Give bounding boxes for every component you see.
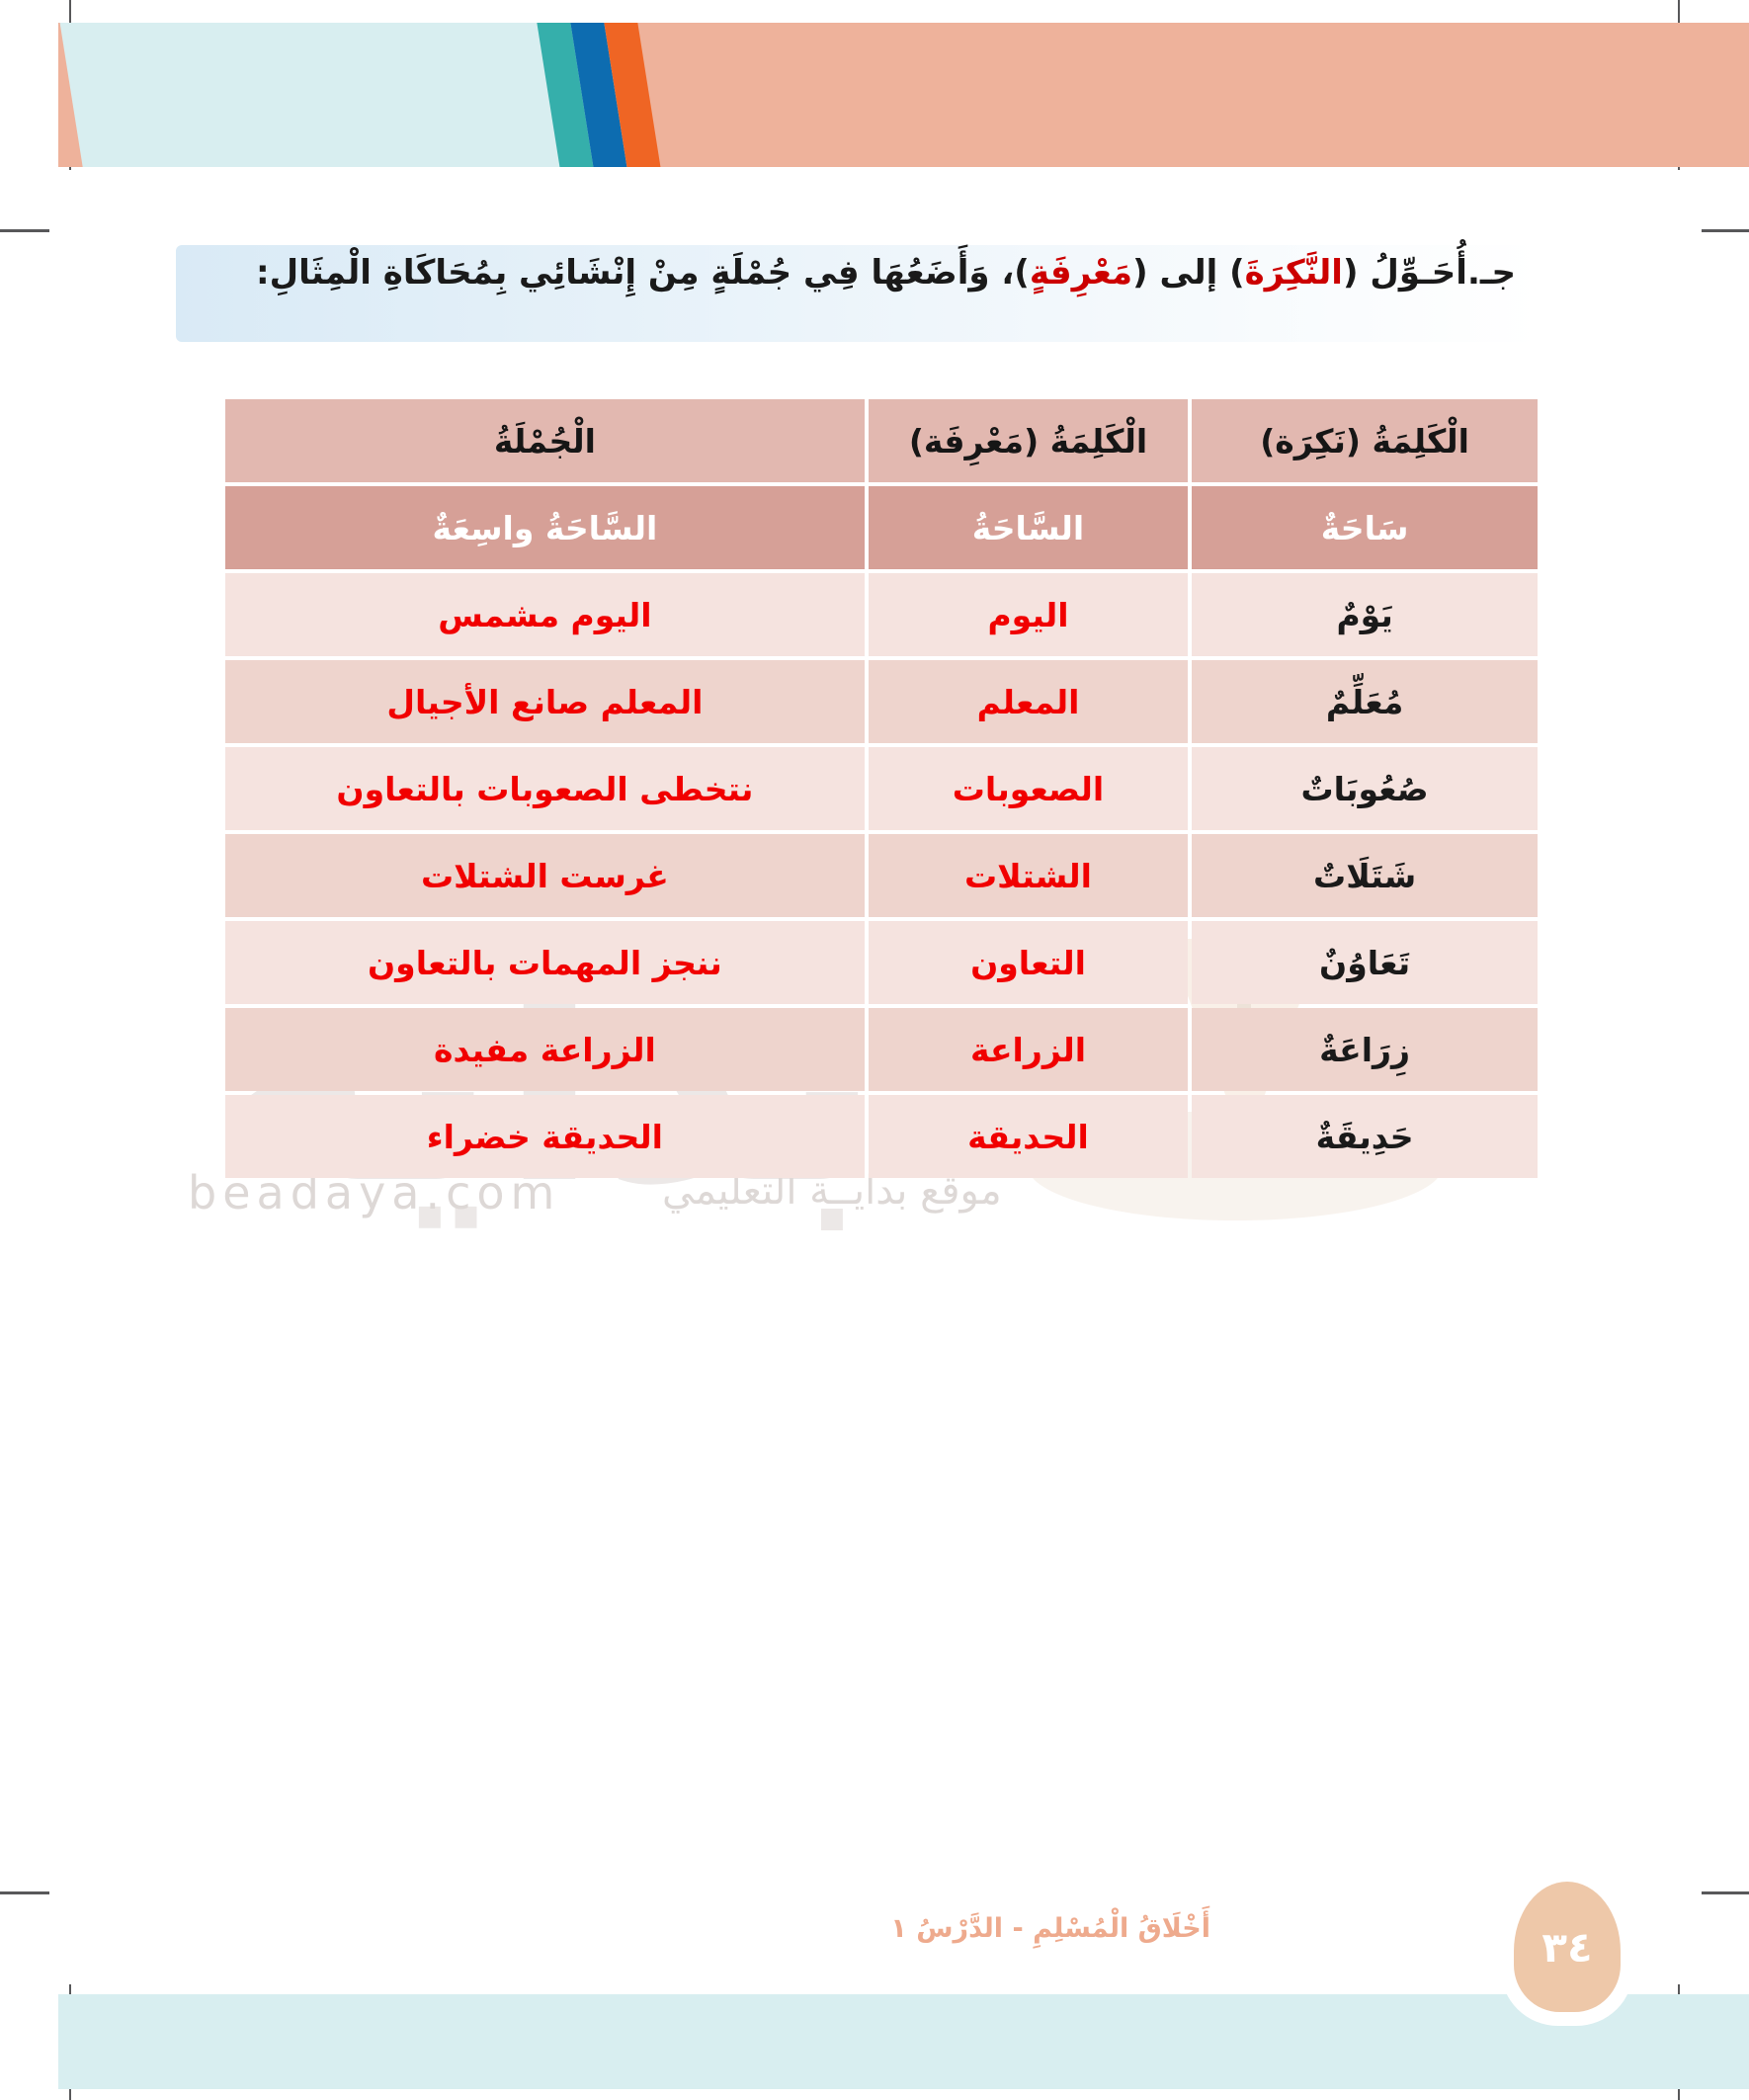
worksheet-page: جـ.أُحَـوِّلُ (النَّكِرَةَ) إلى (مَعْرِف… [0, 0, 1749, 2100]
instruction-banner: جـ.أُحَـوِّلُ (النَّكِرَةَ) إلى (مَعْرِف… [176, 245, 1540, 342]
instruction-marker: جـ. [1467, 253, 1516, 293]
table-row: شَتَلَاتٌ الشتلات غرست الشتلات [225, 834, 1538, 917]
row-word: شَتَلَاتٌ [1192, 834, 1538, 917]
instruction-part-2: ) إلى ( [1132, 253, 1245, 293]
row-sentence-answer[interactable]: نتخطى الصعوبات بالتعاون [225, 747, 865, 830]
table-header-row: الْكَلِمَةُ (نَكِرَة) الْكَلِمَةُ (مَعْر… [225, 399, 1538, 482]
grammar-table-container: الْكَلِمَةُ (نَكِرَة) الْكَلِمَةُ (مَعْر… [221, 395, 1541, 1182]
instruction-text: جـ.أُحَـوِّلُ (النَّكِرَةَ) إلى (مَعْرِف… [200, 251, 1516, 296]
table-row: مُعَلِّمٌ المعلم المعلم صانع الأجيال [225, 660, 1538, 743]
instruction-part-1: أُحَـوِّلُ ( [1343, 253, 1467, 293]
table-body: سَاحَةٌ السَّاحَةُ السَّاحَةُ واسِعَةٌ ي… [225, 486, 1538, 1178]
example-sentence: السَّاحَةُ واسِعَةٌ [225, 486, 865, 569]
table-row: تَعَاوُنٌ التعاون ننجز المهمات بالتعاون [225, 921, 1538, 1004]
instruction-keyword-marifa: مَعْرِفَةٍ [1030, 253, 1132, 293]
row-word: حَدِيقَةٌ [1192, 1095, 1538, 1178]
row-sentence-answer[interactable]: اليوم مشمس [225, 573, 865, 656]
row-sentence-answer[interactable]: ننجز المهمات بالتعاون [225, 921, 865, 1004]
grammar-table: الْكَلِمَةُ (نَكِرَة) الْكَلِمَةُ (مَعْر… [221, 395, 1541, 1182]
crop-mark-left-bottom [0, 1891, 49, 1894]
table-row: صُعُوبَاتٌ الصعوبات نتخطى الصعوبات بالتع… [225, 747, 1538, 830]
example-definite: السَّاحَةُ [869, 486, 1188, 569]
column-header-sentence: الْجُمْلَةُ [225, 399, 865, 482]
instruction-keyword-nakira: النَّكِرَةَ [1245, 253, 1343, 293]
column-header-indefinite-word: الْكَلِمَةُ (نَكِرَة) [1192, 399, 1538, 482]
page-number-badge: ٣٤ [1514, 1882, 1621, 2012]
header-decorative-band [58, 23, 1749, 167]
example-word: سَاحَةٌ [1192, 486, 1538, 569]
row-definite-answer[interactable]: اليوم [869, 573, 1188, 656]
row-definite-answer[interactable]: التعاون [869, 921, 1188, 1004]
row-sentence-answer[interactable]: المعلم صانع الأجيال [225, 660, 865, 743]
row-sentence-answer[interactable]: غرست الشتلات [225, 834, 865, 917]
row-definite-answer[interactable]: المعلم [869, 660, 1188, 743]
row-word: مُعَلِّمٌ [1192, 660, 1538, 743]
crop-mark-left-top [0, 229, 49, 232]
table-row: حَدِيقَةٌ الحديقة الحديقة خضراء [225, 1095, 1538, 1178]
row-definite-answer[interactable]: الزراعة [869, 1008, 1188, 1091]
row-word: تَعَاوُنٌ [1192, 921, 1538, 1004]
row-definite-answer[interactable]: الحديقة [869, 1095, 1188, 1178]
column-header-definite-word: الْكَلِمَةُ (مَعْرِفَة) [869, 399, 1188, 482]
row-word: يَوْمٌ [1192, 573, 1538, 656]
row-sentence-answer[interactable]: الزراعة مفيدة [225, 1008, 865, 1091]
crop-mark-right-top [1702, 229, 1749, 232]
row-definite-answer[interactable]: الشتلات [869, 834, 1188, 917]
crop-mark-right-bottom [1702, 1891, 1749, 1894]
instruction-part-3: )، وَأَضَعُهَا فِي جُمْلَةٍ مِنْ إِنْشَا… [256, 253, 1030, 293]
footer-lesson-label: أَخْلَاقُ الْمُسْلِمِ - الدَّرْسُ ١ [890, 1913, 1210, 1944]
row-word: زِرَاعَةٌ [1192, 1008, 1538, 1091]
table-row: زِرَاعَةٌ الزراعة الزراعة مفيدة [225, 1008, 1538, 1091]
table-row: يَوْمٌ اليوم اليوم مشمس [225, 573, 1538, 656]
row-definite-answer[interactable]: الصعوبات [869, 747, 1188, 830]
table-head: الْكَلِمَةُ (نَكِرَة) الْكَلِمَةُ (مَعْر… [225, 399, 1538, 482]
table-row-example: سَاحَةٌ السَّاحَةُ السَّاحَةُ واسِعَةٌ [225, 486, 1538, 569]
row-word: صُعُوبَاتٌ [1192, 747, 1538, 830]
footer-decorative-band [58, 1994, 1749, 2089]
row-sentence-answer[interactable]: الحديقة خضراء [225, 1095, 865, 1178]
